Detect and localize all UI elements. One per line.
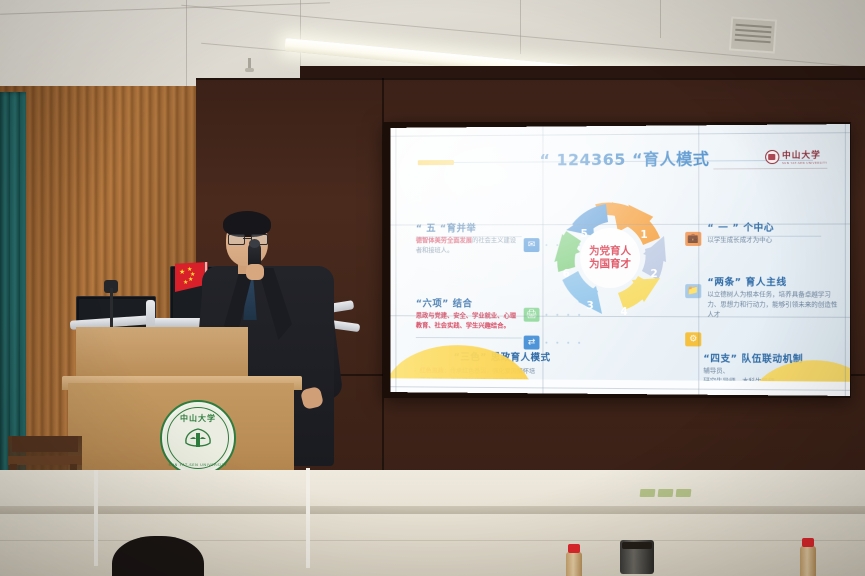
- emblem-university-name: 中山大学: [162, 413, 234, 424]
- conference-hall-photo: “ 124365 “育人模式 中山大学 SUN YAT-SEN UNIVERSI…: [0, 0, 865, 576]
- block-heading: “两条” 育人主线: [707, 274, 841, 288]
- led-video-wall: “ 124365 “育人模式 中山大学 SUN YAT-SEN UNIVERSI…: [383, 122, 851, 398]
- connector-dots: [545, 342, 580, 344]
- travel-mug: [620, 540, 654, 574]
- podium-upper-shelf: [76, 327, 248, 381]
- block-highlight: 思政与党建、安全、学业就业、心理教育、社会实践、学生兴趣结合。: [416, 311, 516, 329]
- university-seal-icon: [765, 150, 779, 164]
- slide-title: “ 124365 “育人模式: [539, 145, 709, 170]
- emblem-university-latin: SUN YAT-SEN UNIVERSITY: [162, 463, 234, 467]
- cycle-number-6: 6: [563, 268, 570, 280]
- block-highlight: 德智体美劳全面发展: [416, 236, 472, 244]
- block-five-education: “ 五 “育并举 德智体美劳全面发展的社会主义建设者和接班人。: [416, 220, 522, 256]
- ceiling-air-vent: [729, 16, 777, 53]
- monitor-arm-riser: [146, 300, 155, 330]
- cycle-center-line2: 为国育才: [589, 258, 631, 271]
- led-seam: [395, 128, 396, 392]
- shuffle-icon: ⇄: [524, 336, 540, 350]
- cycle-center-line1: 为党育人: [589, 245, 631, 258]
- cycle-diagram: 1 2 3 4 5 6 为党育人 为国育才: [546, 194, 674, 322]
- emblem-tree-icon: [183, 428, 213, 450]
- block-six-integration: “六项” 结合 思政与党建、安全、学业就业、心理教育、社会实践、学生兴趣结合。: [416, 296, 522, 332]
- led-seam: [542, 127, 543, 394]
- block-heading: “六项” 结合: [416, 296, 522, 310]
- envelope-icon: ✉: [524, 238, 540, 252]
- floor-green-tiles: [640, 489, 691, 497]
- bottle-cap: [802, 538, 814, 547]
- eyeglasses: [228, 234, 266, 243]
- water-bottle-2: [800, 546, 816, 576]
- block-body: 以学生成长成才为中心: [707, 236, 837, 246]
- cycle-center-text: 为党育人 为国育才: [589, 245, 631, 271]
- cycle-number-3: 3: [586, 300, 593, 312]
- water-bottle-1: [566, 552, 582, 576]
- teal-curtain: [0, 92, 26, 492]
- sprinkler-head: [248, 58, 251, 70]
- cycle-number-1: 1: [640, 229, 647, 241]
- stage-guard-rail-vertical: [94, 470, 98, 566]
- logo-underline: [713, 168, 827, 170]
- cycle-number-2: 2: [650, 268, 657, 280]
- block-heading: “ 五 “育并举: [416, 220, 522, 234]
- university-logo-subtitle: SUN YAT-SEN UNIVERSITY: [782, 161, 827, 165]
- stage-guard-rail-vertical-2: [306, 468, 310, 568]
- block-two-mainlines: “两条” 育人主线 以立德树人为根本任务，培养具备卓越学习力、思想力和行动力，能…: [707, 274, 841, 321]
- presentation-slide: “ 124365 “育人模式 中山大学 SUN YAT-SEN UNIVERSI…: [391, 124, 850, 396]
- university-logo: 中山大学 SUN YAT-SEN UNIVERSITY: [765, 149, 828, 166]
- podium-university-emblem: 中山大学 SUN YAT-SEN UNIVERSITY: [160, 400, 236, 476]
- bottle-cap: [568, 544, 580, 553]
- block-heading: “ 一 ” 个中心: [707, 219, 837, 233]
- university-logo-name: 中山大学: [782, 149, 827, 161]
- led-seam: [845, 124, 846, 396]
- presenter-hand-holding-mic: [246, 264, 264, 280]
- cycle-number-5: 5: [580, 228, 587, 240]
- led-seam: [698, 125, 699, 394]
- title-accent-bar: [418, 160, 454, 165]
- slide-screen: “ 124365 “育人模式 中山大学 SUN YAT-SEN UNIVERSI…: [391, 124, 850, 396]
